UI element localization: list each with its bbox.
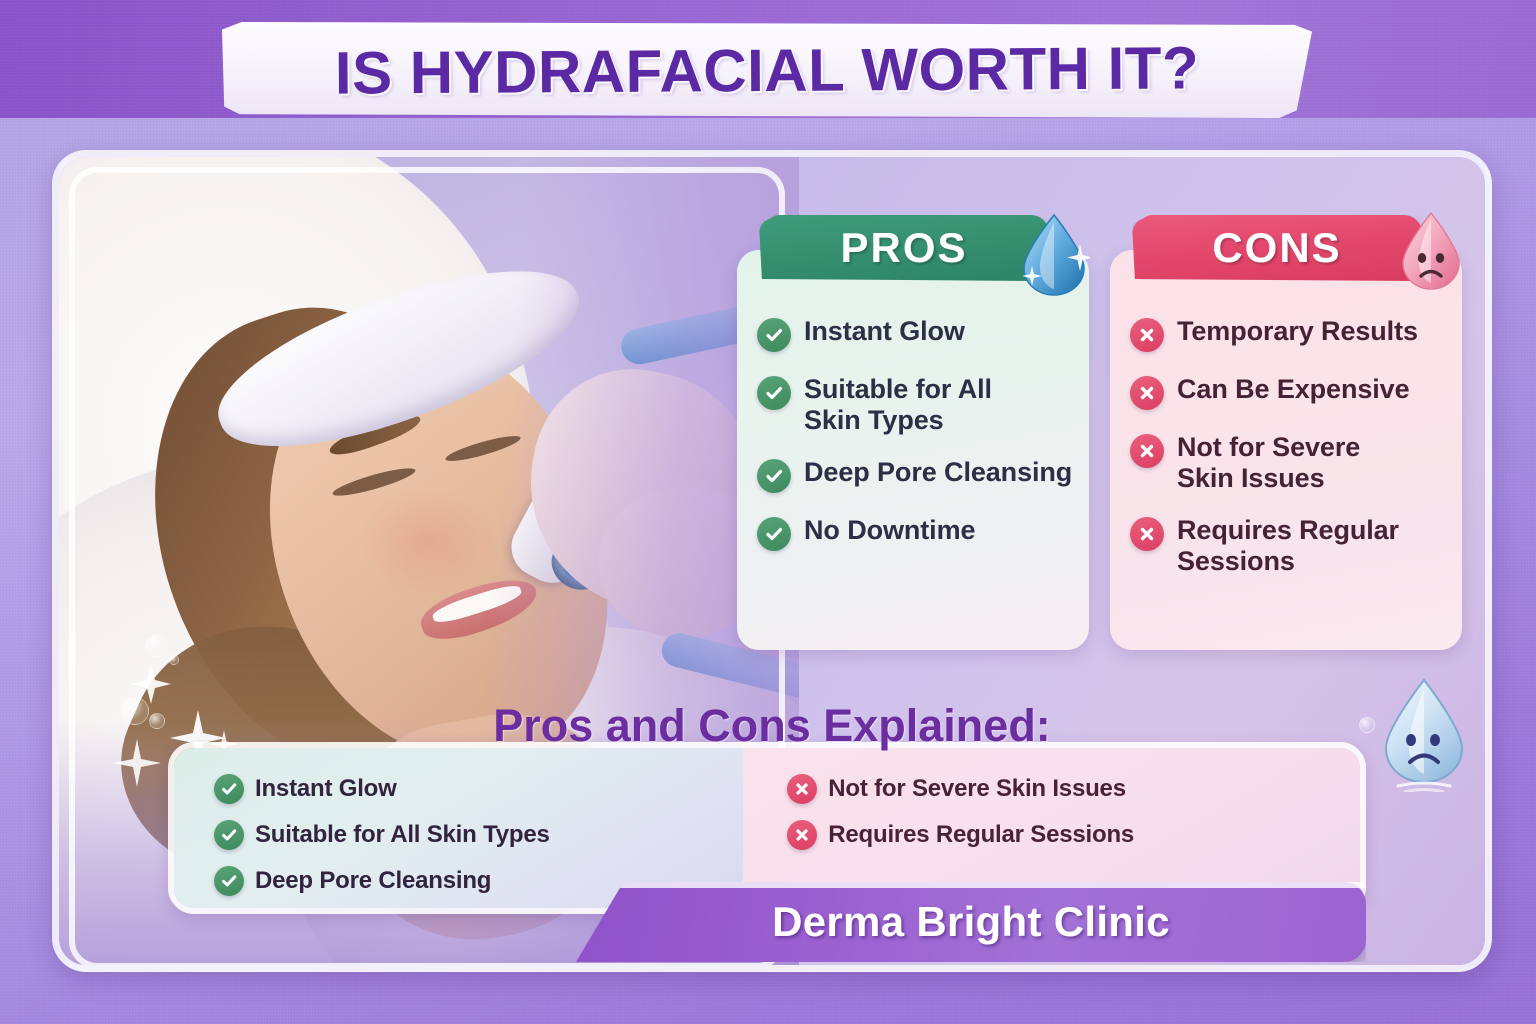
list-item-label: No Downtime — [804, 515, 975, 546]
x-icon — [787, 774, 817, 804]
list-item: Instant Glow — [757, 316, 1087, 352]
list-item: Temporary Results — [1130, 316, 1460, 352]
footer-banner — [576, 882, 1366, 962]
list-item-label: Requires Regular Sessions — [1177, 515, 1427, 576]
list-item-label: Requires Regular Sessions — [828, 821, 1134, 849]
check-icon — [214, 866, 244, 896]
x-icon — [1130, 434, 1164, 468]
cons-card-header: CONS — [1132, 215, 1422, 281]
check-icon — [757, 517, 791, 551]
infographic-canvas: IS HYDRAFACIAL WORTH IT? — [0, 0, 1536, 1024]
section-heading: Pros and Cons Explained: — [52, 700, 1492, 752]
list-item: Requires Regular Sessions — [1130, 515, 1460, 576]
x-icon — [1130, 517, 1164, 551]
list-item-label: Not for Severe Skin Issues — [1177, 432, 1389, 493]
list-item-label: Deep Pore Cleansing — [804, 457, 1072, 488]
list-item-label: Instant Glow — [255, 775, 397, 803]
list-item-label: Temporary Results — [1177, 316, 1418, 347]
list-item: Instant Glow — [214, 774, 743, 804]
sad-droplet-icon — [1398, 210, 1464, 292]
list-item: Suitable for All Skin Types — [214, 820, 743, 850]
list-item-label: Instant Glow — [804, 316, 965, 347]
pros-list: Instant Glow Suitable for All Skin Types… — [757, 316, 1087, 573]
list-item-label: Deep Pore Cleansing — [255, 867, 491, 895]
pros-card-header: PROS — [759, 215, 1049, 281]
x-icon — [787, 820, 817, 850]
check-icon — [757, 459, 791, 493]
list-item: Deep Pore Cleansing — [757, 457, 1087, 493]
list-item: Can Be Expensive — [1130, 374, 1460, 410]
list-item-label: Suitable for All Skin Types — [804, 374, 1039, 435]
list-item: Not for Severe Skin Issues — [1130, 432, 1460, 493]
list-item-label: Can Be Expensive — [1177, 374, 1410, 405]
check-icon — [757, 376, 791, 410]
list-item: Requires Regular Sessions — [787, 820, 1360, 850]
x-icon — [1130, 318, 1164, 352]
page-title: IS HYDRAFACIAL WORTH IT? — [222, 19, 1313, 122]
check-icon — [214, 774, 244, 804]
check-icon — [757, 318, 791, 352]
water-droplet-sparkle-icon — [1018, 212, 1090, 298]
check-icon — [214, 820, 244, 850]
list-item: No Downtime — [757, 515, 1087, 551]
x-icon — [1130, 376, 1164, 410]
list-item: Suitable for All Skin Types — [757, 374, 1087, 435]
list-item-label: Not for Severe Skin Issues — [828, 775, 1126, 803]
list-item: Not for Severe Skin Issues — [787, 774, 1360, 804]
list-item-label: Suitable for All Skin Types — [255, 821, 550, 849]
cons-list: Temporary Results Can Be Expensive Not f… — [1130, 316, 1460, 598]
